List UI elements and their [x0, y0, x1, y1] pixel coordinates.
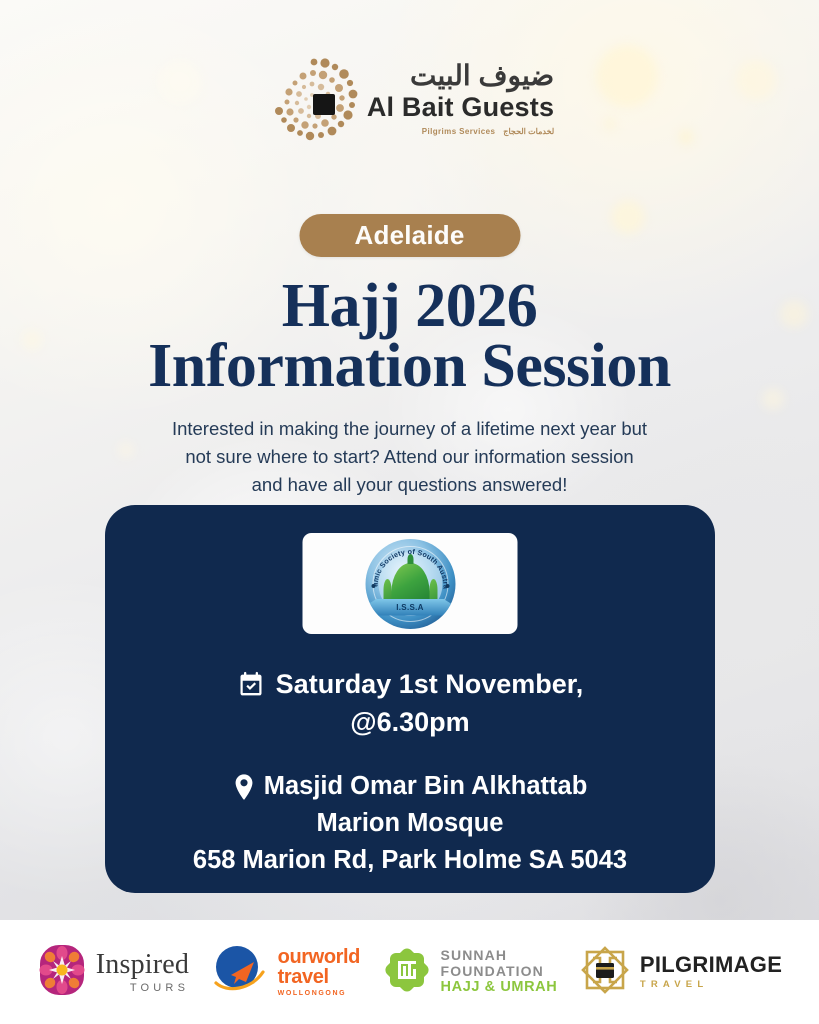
sponsor-pilgrimage-name: PILGRIMAGE: [640, 954, 782, 976]
intro-line-3: and have all your questions answered!: [0, 471, 819, 499]
event-datetime: Saturday 1st November, @6.30pm: [105, 665, 715, 742]
kaaba-diamond-icon: [579, 944, 631, 1001]
brand-logo: ضيوف البيت Al Bait Guests Pilgrims Servi…: [0, 52, 819, 150]
host-logo-card: The Islamic Society of South Australia I…: [303, 533, 518, 634]
host-logo-arc-text: The Islamic Society of South Australia I…: [365, 539, 450, 590]
sponsor-sunnah-line-1: SUNNAH: [441, 948, 558, 964]
event-date-text: Saturday 1st November,: [276, 665, 584, 703]
floral-medallion-icon: [37, 942, 87, 1003]
sponsor-pilgrimage-sub: TRAVEL: [640, 979, 782, 990]
headline-line-1: Hajj 2026: [282, 272, 538, 340]
venue-name: Masjid Omar Bin Alkhattab: [264, 770, 588, 803]
brand-text: ضيوف البيت Al Bait Guests Pilgrims Servi…: [367, 62, 554, 139]
svg-text:The Islamic Society of South A: The Islamic Society of South Australia I…: [365, 539, 450, 590]
host-logo-banner: I.S.S.A: [369, 599, 451, 616]
sponsor-sunnah-line-2: FOUNDATION: [441, 964, 558, 980]
globe-plane-icon: [211, 942, 269, 1003]
poster-canvas: ضيوف البيت Al Bait Guests Pilgrims Servi…: [0, 0, 819, 1024]
city-badge-label: Adelaide: [355, 220, 465, 251]
sponsor-ourworld-text: ourworld travel WOLLONGONG: [278, 947, 360, 997]
city-badge: Adelaide: [299, 214, 520, 257]
sponsor-pilgrimage-travel[interactable]: PILGRIMAGE TRAVEL: [579, 944, 782, 1001]
sponsor-sunnah-foundation[interactable]: SUNNAH FOUNDATION HAJJ & UMRAH: [382, 944, 558, 1001]
brand-english-name: Al Bait Guests: [367, 92, 554, 123]
sponsor-inspired-sub: TOURS: [96, 982, 189, 994]
map-pin-icon: [233, 773, 255, 801]
intro-line-2: not sure where to start? Attend our info…: [0, 443, 819, 471]
sponsor-ourworld-sub: WOLLONGONG: [278, 990, 360, 997]
sponsor-footer: Inspired TOURS ourworld travel WOLLONGON…: [0, 920, 819, 1024]
event-location: Masjid Omar Bin Alkhattab Marion Mosque …: [105, 770, 715, 877]
page-title: Hajj 2026 Information Session: [0, 276, 819, 396]
brand-tagline-ar: لخدمات الحجاج: [503, 127, 554, 136]
intro-paragraph: Interested in making the journey of a li…: [0, 415, 819, 499]
sponsor-pilgrimage-text: PILGRIMAGE TRAVEL: [640, 954, 782, 990]
sponsor-inspired-name: Inspired: [96, 951, 189, 979]
mosque-dome-icon: The Islamic Society of South Australia I…: [365, 539, 455, 629]
sponsor-sunnah-text: SUNNAH FOUNDATION HAJJ & UMRAH: [441, 948, 558, 996]
sponsor-sunnah-line-3: HAJJ & UMRAH: [441, 979, 558, 996]
sponsor-inspired-tours[interactable]: Inspired TOURS: [37, 942, 189, 1003]
calendar-check-icon: [237, 670, 265, 698]
sponsor-ourworld-travel[interactable]: ourworld travel WOLLONGONG: [211, 942, 360, 1003]
sponsor-inspired-text: Inspired TOURS: [96, 951, 189, 994]
logo-dot: [371, 584, 375, 588]
kaaba-square-icon: [313, 94, 335, 115]
brand-logo-row: ضيوف البيت Al Bait Guests Pilgrims Servi…: [265, 52, 554, 150]
green-star-emblem-icon: [382, 944, 432, 1001]
brand-tagline: Pilgrims Services لخدمات الحجاج: [367, 127, 554, 136]
venue-alt-name: Marion Mosque: [105, 807, 715, 840]
intro-line-1: Interested in making the journey of a li…: [0, 415, 819, 443]
logo-dot: [445, 584, 449, 588]
sponsor-ourworld-name-top: ourworld: [278, 947, 360, 967]
venue-address: 658 Marion Rd, Park Holme SA 5043: [105, 844, 715, 877]
event-time-text: @6.30pm: [105, 703, 715, 741]
event-details-card: The Islamic Society of South Australia I…: [105, 505, 715, 893]
headline-line-2: Information Session: [0, 336, 819, 396]
bokeh-light: [611, 200, 645, 234]
kaaba-dots-icon: [265, 52, 363, 150]
brand-arabic-name: ضيوف البيت: [367, 62, 554, 90]
host-logo-banner-text: I.S.S.A: [396, 603, 423, 612]
sponsor-ourworld-name-mid: travel: [278, 967, 360, 988]
brand-tagline-en: Pilgrims Services: [422, 127, 496, 136]
